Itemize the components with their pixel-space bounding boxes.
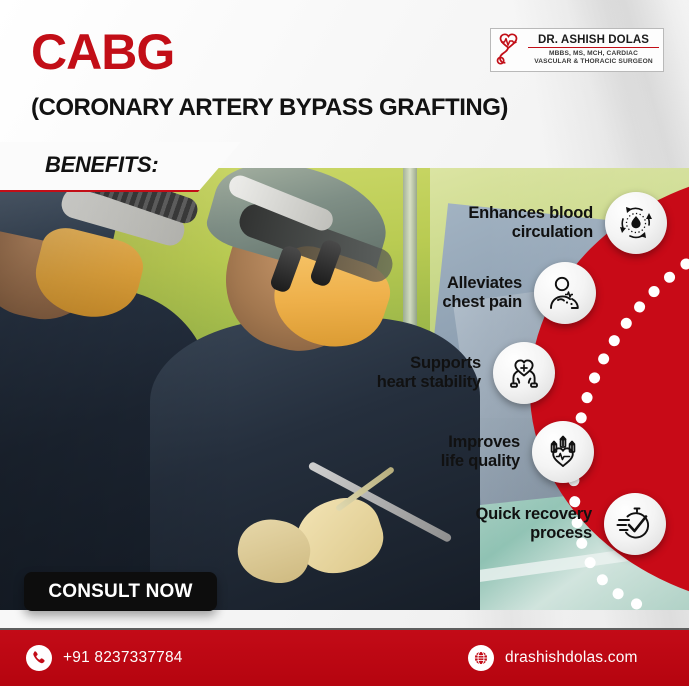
benefit-label: Enhances blood circulation bbox=[468, 204, 593, 243]
globe-icon bbox=[468, 645, 494, 671]
benefit-label: Supports heart stability bbox=[377, 354, 481, 393]
poster-canvas: CABG (CORONARY ARTERY BYPASS GRAFTING) D… bbox=[0, 0, 689, 686]
benefit-label: Quick recovery process bbox=[476, 505, 592, 544]
consult-now-button[interactable]: CONSULT NOW bbox=[24, 572, 217, 611]
consult-now-label: CONSULT NOW bbox=[48, 581, 192, 603]
benefit-item-quick-recovery-process: Quick recovery process bbox=[476, 493, 666, 555]
page-title: CABG bbox=[31, 27, 174, 77]
benefits-tab-label: BENEFITS: bbox=[45, 152, 158, 178]
footer-phone-number: +91 8237337784 bbox=[63, 649, 183, 667]
phone-icon bbox=[26, 645, 52, 671]
stopwatch-check-icon bbox=[604, 493, 666, 555]
hands-holding-heart-icon bbox=[493, 342, 555, 404]
logo-text-block: DR. ASHISH DOLAS MBBS, MS, MCH, CARDIAC … bbox=[528, 34, 659, 66]
footer-website-url: drashishdolas.com bbox=[505, 649, 638, 667]
chest-pain-person-icon bbox=[534, 262, 596, 324]
page-subtitle: (CORONARY ARTERY BYPASS GRAFTING) bbox=[31, 96, 508, 120]
doctor-name: DR. ASHISH DOLAS bbox=[538, 34, 649, 46]
header: CABG (CORONARY ARTERY BYPASS GRAFTING) D… bbox=[0, 0, 689, 160]
logo-divider bbox=[528, 47, 659, 48]
footer-phone[interactable]: +91 8237337784 bbox=[26, 645, 183, 671]
doctor-credentials-line-1: MBBS, MS, MCH, CARDIAC bbox=[549, 50, 638, 58]
blood-circulation-icon bbox=[605, 192, 667, 254]
doctor-credentials-line-2: VASCULAR & THORACIC SURGEON bbox=[534, 58, 653, 66]
benefit-item-improves-life-quality: Improves life quality bbox=[441, 421, 594, 483]
brand-logo: DR. ASHISH DOLAS MBBS, MS, MCH, CARDIAC … bbox=[490, 28, 664, 72]
benefit-item-enhances-blood-circulation: Enhances blood circulation bbox=[468, 192, 667, 254]
benefit-label: Improves life quality bbox=[441, 433, 520, 472]
benefit-item-supports-heart-stability: Supports heart stability bbox=[377, 342, 555, 404]
benefit-item-alleviates-chest-pain: Alleviates chest pain bbox=[442, 262, 596, 324]
heart-growth-arrows-icon bbox=[532, 421, 594, 483]
heart-ecg-stethoscope-icon bbox=[494, 31, 528, 69]
benefit-label: Alleviates chest pain bbox=[442, 274, 522, 313]
footer-website[interactable]: drashishdolas.com bbox=[468, 645, 638, 671]
footer-contact-bar: +91 8237337784 drashishdolas.com bbox=[0, 628, 689, 686]
